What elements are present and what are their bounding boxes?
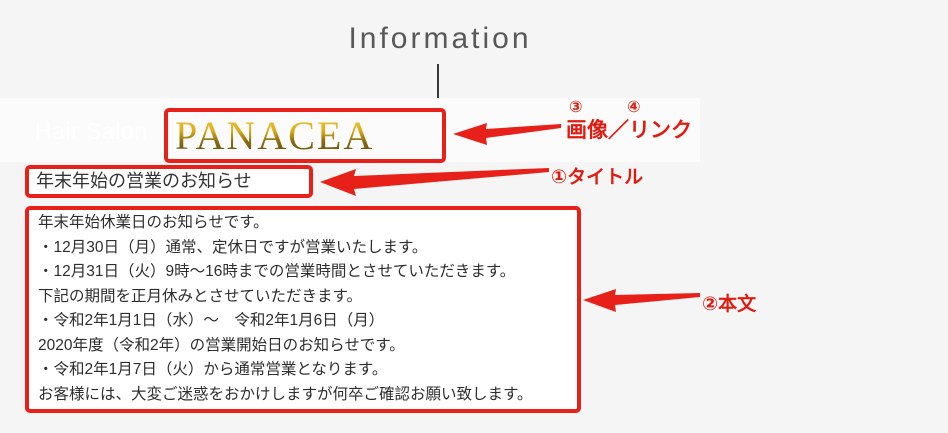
post-title: 年末年始の営業のお知らせ: [36, 168, 306, 195]
page-title: Information: [0, 22, 880, 56]
post-body: 年末年始休業日のお知らせです。 ・12月30日（月）通常、定休日ですが営業いたし…: [38, 211, 572, 407]
screenshot-stage: Information Hair Salon PANACEA 年末年始の営業のお…: [0, 0, 948, 433]
post-body-line: 2020年度（令和2年）の営業開始日のお知らせです。: [38, 334, 572, 359]
annotation-label-image-link: 画像／リンク: [566, 114, 692, 144]
arrow-to-body: [583, 289, 700, 312]
site-kicker-text: Hair Salon: [35, 118, 147, 145]
post-body-line: ・12月31日（火）9時〜16時までの営業時間とさせていただきます。: [38, 260, 572, 285]
arrow-to-title: [320, 168, 549, 196]
post-body-line: ・令和2年1月1日（水）〜 令和2年1月6日（月）: [38, 309, 572, 334]
post-body-line: 下記の期間を正月休みとさせていただきます。: [38, 285, 572, 310]
annotation-label-body: ②本文: [702, 289, 756, 316]
post-body-line: お客様には、大変ご迷惑をおかけしますが何卒ご確認お願い致します。: [38, 383, 572, 408]
annotation-label-title: ①タイトル: [551, 162, 643, 189]
post-body-line: ・12月30日（月）通常、定休日ですが営業いたします。: [38, 236, 572, 261]
post-body-line: ・令和2年1月7日（火）から通常営業となります。: [38, 358, 572, 383]
highlight-box-logo: [164, 108, 446, 163]
post-body-line: 年末年始休業日のお知らせです。: [38, 211, 572, 236]
